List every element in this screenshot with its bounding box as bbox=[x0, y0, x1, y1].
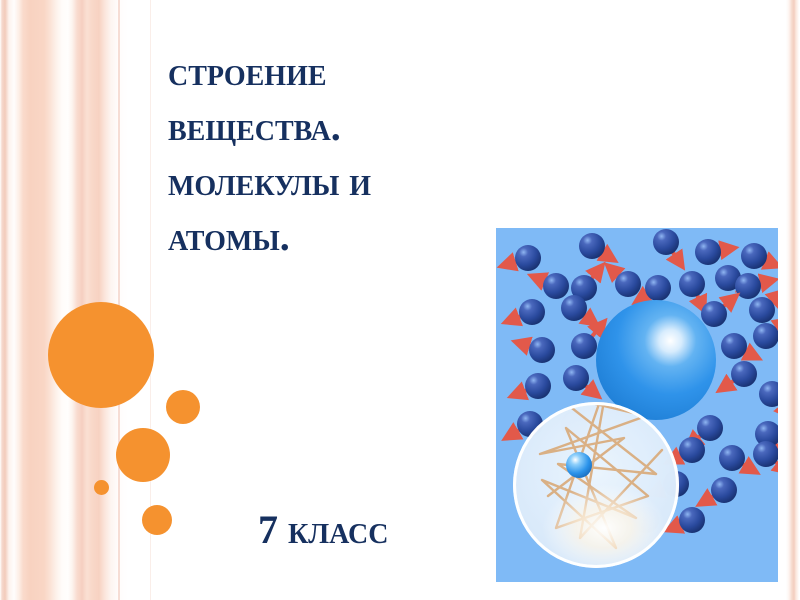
molecule-sphere bbox=[741, 243, 767, 269]
brownian-motion-illustration bbox=[496, 228, 778, 582]
title-line-3: МОЛЕКУЛЫ И bbox=[168, 154, 498, 209]
title-line-4: АТОМЫ. bbox=[168, 209, 498, 264]
molecule-sphere bbox=[711, 477, 737, 503]
molecule-sphere bbox=[525, 373, 551, 399]
decorative-circle-mini bbox=[142, 505, 172, 535]
molecule-sphere bbox=[679, 437, 705, 463]
molecule-sphere bbox=[753, 441, 778, 467]
magnified-atom bbox=[566, 452, 592, 478]
molecule-sphere bbox=[571, 333, 597, 359]
decorative-circle-large bbox=[48, 302, 154, 408]
molecule-sphere bbox=[515, 245, 541, 271]
brownian-particle bbox=[596, 300, 716, 420]
illustration-canvas bbox=[496, 228, 778, 582]
left-stripe-decoration bbox=[0, 0, 132, 600]
slide-subtitle: 7 КЛАСС bbox=[258, 505, 388, 555]
title-line-2: ВЕЩЕСТВА. bbox=[168, 99, 498, 154]
right-stripe-decoration bbox=[786, 0, 800, 600]
molecule-sphere bbox=[645, 275, 671, 301]
molecule-sphere bbox=[579, 233, 605, 259]
molecule-sphere bbox=[697, 415, 723, 441]
molecule-sphere bbox=[701, 301, 727, 327]
stripe-accent-line-a bbox=[118, 0, 120, 600]
molecule-sphere bbox=[749, 297, 775, 323]
molecule-sphere bbox=[679, 507, 705, 533]
molecule-sphere bbox=[735, 273, 761, 299]
molecule-sphere bbox=[695, 239, 721, 265]
molecule-sphere bbox=[615, 271, 641, 297]
velocity-arrow-icon bbox=[719, 248, 734, 250]
molecule-sphere bbox=[721, 333, 747, 359]
decorative-circle-tiny bbox=[94, 480, 109, 495]
molecule-sphere bbox=[543, 273, 569, 299]
molecule-sphere bbox=[561, 295, 587, 321]
decorative-circle-small bbox=[166, 390, 200, 424]
molecule-sphere bbox=[753, 323, 778, 349]
molecule-sphere bbox=[529, 337, 555, 363]
decorative-circle-medium bbox=[116, 428, 170, 482]
slide-title: СТРОЕНИЕ ВЕЩЕСТВА. МОЛЕКУЛЫ И АТОМЫ. bbox=[168, 44, 498, 264]
molecule-sphere bbox=[731, 361, 757, 387]
molecule-sphere bbox=[519, 299, 545, 325]
molecule-sphere bbox=[679, 271, 705, 297]
presentation-slide: СТРОЕНИЕ ВЕЩЕСТВА. МОЛЕКУЛЫ И АТОМЫ. 7 К… bbox=[0, 0, 800, 600]
molecule-sphere bbox=[653, 229, 679, 255]
molecule-sphere bbox=[563, 365, 589, 391]
title-line-1: СТРОЕНИЕ bbox=[168, 44, 498, 99]
molecule-sphere bbox=[719, 445, 745, 471]
